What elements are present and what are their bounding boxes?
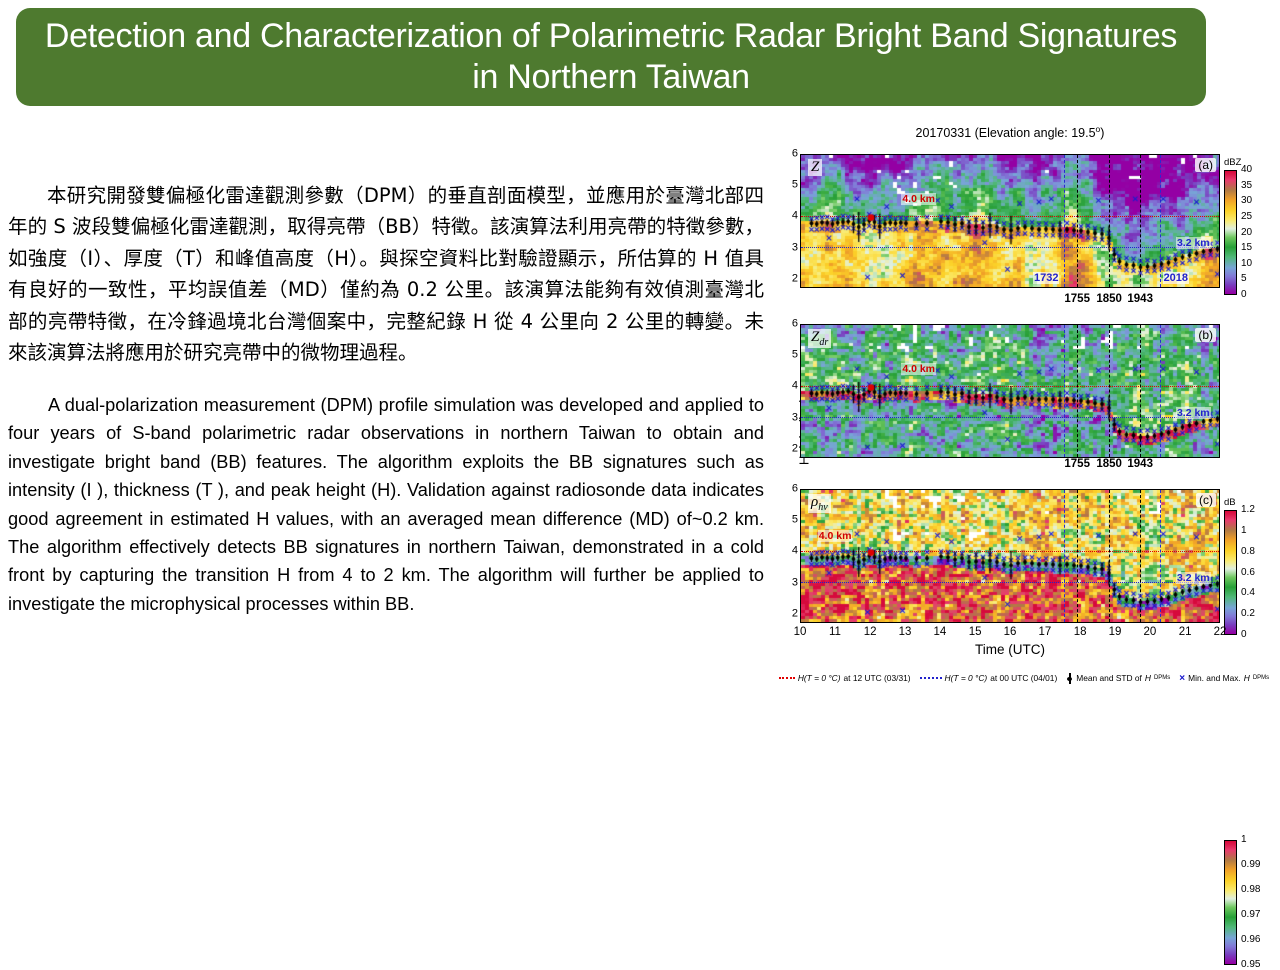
legend-label-post: at 00 UTC (04/01) xyxy=(990,673,1057,683)
y-tick: 4 xyxy=(778,381,798,392)
annotation-2018: 2018 xyxy=(1163,272,1189,284)
annotation-3.2km-c: 3.2 km xyxy=(1176,572,1211,584)
event-time-1755: 1755 xyxy=(1064,459,1090,471)
annotation-4km-c: 4.0 km xyxy=(818,530,853,542)
legend-label-pre: Min. and Max. xyxy=(1188,673,1241,683)
colorbar-strip-c xyxy=(1224,840,1237,965)
legend-label-sub: DPMs xyxy=(1154,675,1170,681)
variable-subscript: dr xyxy=(819,337,828,348)
x-axis-ticks: 10 11 12 13 14 15 16 17 18 19 20 21 22 xyxy=(800,625,1220,643)
colorbar-tick: 25 xyxy=(1241,212,1252,222)
variable-symbol: Z xyxy=(811,159,819,175)
legend-label-pre: Mean and STD of xyxy=(1076,673,1142,683)
errorbar-icon xyxy=(1066,673,1073,684)
annotation-3.2km-a: 3.2 km xyxy=(1176,237,1211,249)
x-tick: 13 xyxy=(899,627,912,639)
figure-legend: H(T = 0 °C) at 12 UTC (03/31) H(T = 0 °C… xyxy=(776,667,1272,689)
panel-a-colorbar: dBZ 40 35 30 25 20 15 10 5 0 xyxy=(1224,170,1272,295)
y-tick: 2 xyxy=(778,273,798,284)
panel-b: 6 5 4 3 2 Zdr (b) 4.0 km 3.2 km dB 1.2 1 xyxy=(772,310,1272,465)
panel-b-variable-label: Zdr xyxy=(808,329,831,348)
panel-a-overlay xyxy=(801,155,1220,288)
colorbar-tick: 0.97 xyxy=(1241,910,1260,920)
y-tick: 4 xyxy=(778,546,798,557)
x-tick: 17 xyxy=(1038,627,1051,639)
x-tick: 16 xyxy=(1004,627,1017,639)
legend-label-post: at 12 UTC (03/31) xyxy=(844,673,911,683)
y-tick: 3 xyxy=(778,577,798,588)
panel-a-variable-label: Z xyxy=(808,159,822,176)
dotted-blue-line-icon xyxy=(920,677,942,679)
event-time-1943: 1943 xyxy=(1127,294,1153,306)
legend-label-post: H xyxy=(1244,673,1250,683)
y-tick: 3 xyxy=(778,412,798,423)
annotation-4km-a: 4.0 km xyxy=(901,193,936,205)
colorbar-tick: 0.99 xyxy=(1241,860,1260,870)
x-tick: 22 xyxy=(1214,627,1227,639)
panel-c: 6 5 4 3 2 ρhv (c) 4.0 km 3.2 km 10 11 12… xyxy=(772,475,1272,630)
event-time-row-a: 1755 1850 1943 xyxy=(800,294,1220,309)
legend-label-pre: H(T = 0 °C) xyxy=(945,673,988,683)
x-tick: 15 xyxy=(969,627,982,639)
panel-b-plot-area: Zdr (b) 4.0 km 3.2 km xyxy=(800,324,1220,458)
y-tick: 3 xyxy=(778,242,798,253)
figure-title-main: 20170331 (Elevation angle: 19.5 xyxy=(916,126,1096,140)
annotation-3.2km-b: 3.2 km xyxy=(1176,407,1211,419)
variable-subscript: hv xyxy=(818,502,827,513)
legend-item-0: H(T = 0 °C) at 12 UTC (03/31) xyxy=(779,673,911,683)
y-tick: 5 xyxy=(778,515,798,526)
colorbar-tick: 0.95 xyxy=(1241,960,1260,970)
event-time-1755: 1755 xyxy=(1064,294,1090,306)
colorbar-tick: 15 xyxy=(1241,243,1252,253)
legend-item-1: H(T = 0 °C) at 00 UTC (04/01) xyxy=(920,673,1058,683)
colorbar-tick: 35 xyxy=(1241,181,1252,191)
colorbar-tick: 0.96 xyxy=(1241,935,1260,945)
panel-a-plot-area: Z (a) 4.0 km 3.2 km 1732 2018 xyxy=(800,154,1220,288)
panel-c-letter: (c) xyxy=(1196,493,1216,507)
colorbar-tick: 10 xyxy=(1241,259,1252,269)
annotation-4km-b: 4.0 km xyxy=(901,363,936,375)
panel-b-letter: (b) xyxy=(1195,328,1216,342)
event-time-1850: 1850 xyxy=(1096,459,1122,471)
y-tick: 6 xyxy=(778,484,798,495)
figure-title-tail: ) xyxy=(1100,126,1104,140)
legend-label-post: H xyxy=(1145,673,1151,683)
y-tick: 2 xyxy=(778,608,798,619)
colorbar-tick: 20 xyxy=(1241,228,1252,238)
panel-b-y-axis: 6 5 4 3 2 xyxy=(778,324,798,458)
colorbar-tick: 40 xyxy=(1241,165,1252,175)
colorbar-tick: 0 xyxy=(1241,290,1247,300)
radar-figure: 20170331 (Elevation angle: 19.5o) Height… xyxy=(772,124,1272,704)
abstract-chinese: 本研究開發雙偏極化雷達觀測參數（DPM）的垂直剖面模型，並應用於臺灣北部四年的 … xyxy=(8,180,764,369)
y-tick: 6 xyxy=(778,149,798,160)
colorbar-tick: 0 xyxy=(1241,630,1247,640)
x-tick: 14 xyxy=(933,627,946,639)
legend-item-2: Mean and STD of HDPMs xyxy=(1066,673,1170,684)
panel-c-variable-label: ρhv xyxy=(808,494,831,513)
colorbar-unit-dbz: dBZ xyxy=(1224,157,1241,168)
x-tick: 12 xyxy=(864,627,877,639)
page-title: Detection and Characterization of Polari… xyxy=(40,16,1182,99)
colorbar-tick: 0.98 xyxy=(1241,885,1260,895)
panel-c-overlay xyxy=(801,490,1220,623)
dotted-red-line-icon xyxy=(779,677,795,679)
x-tick: 20 xyxy=(1143,627,1156,639)
x-marker-icon: × xyxy=(1179,673,1185,684)
legend-label-pre: H(T = 0 °C) xyxy=(798,673,841,683)
x-tick: 11 xyxy=(829,627,841,639)
legend-item-3: × Min. and Max. HDPMs xyxy=(1179,673,1269,684)
event-time-1850: 1850 xyxy=(1096,294,1122,306)
annotation-1732: 1732 xyxy=(1033,272,1059,284)
abstract-english: A dual-polarization measurement (DPM) pr… xyxy=(8,391,764,618)
panel-c-plot-area: ρhv (c) 4.0 km 3.2 km xyxy=(800,489,1220,623)
x-tick: 21 xyxy=(1179,627,1192,639)
y-tick: 2 xyxy=(778,443,798,454)
slide-title-banner: Detection and Characterization of Polari… xyxy=(16,8,1206,106)
x-axis-label: Time (UTC) xyxy=(800,642,1220,657)
y-tick: 5 xyxy=(778,350,798,361)
x-tick: 18 xyxy=(1074,627,1087,639)
y-tick: 5 xyxy=(778,180,798,191)
panel-c-colorbar: 1 0.99 0.98 0.97 0.96 0.95 xyxy=(1224,840,1272,965)
abstract-column: 本研究開發雙偏極化雷達觀測參數（DPM）的垂直剖面模型，並應用於臺灣北部四年的 … xyxy=(8,160,764,636)
panel-a: 6 5 4 3 2 Z (a) 4.0 km 3.2 km 1732 2018 … xyxy=(772,140,1272,295)
panel-a-letter: (a) xyxy=(1195,158,1216,172)
legend-label-sub: DPMs xyxy=(1253,675,1269,681)
y-tick: 6 xyxy=(778,319,798,330)
event-time-1943: 1943 xyxy=(1127,459,1153,471)
x-tick: 10 xyxy=(794,627,807,639)
event-time-row-b: 1755 1850 1943 xyxy=(800,459,1220,474)
figure-title: 20170331 (Elevation angle: 19.5o) xyxy=(790,124,1230,140)
panel-b-overlay xyxy=(801,325,1220,458)
colorbar-tick: 30 xyxy=(1241,196,1252,206)
y-tick: 4 xyxy=(778,211,798,222)
panel-c-y-axis: 6 5 4 3 2 xyxy=(778,489,798,623)
colorbar-tick: 1 xyxy=(1241,835,1247,845)
panel-a-y-axis: 6 5 4 3 2 xyxy=(778,154,798,288)
colorbar-strip-a xyxy=(1224,170,1237,295)
x-tick: 19 xyxy=(1109,627,1122,639)
colorbar-tick: 5 xyxy=(1241,274,1247,284)
